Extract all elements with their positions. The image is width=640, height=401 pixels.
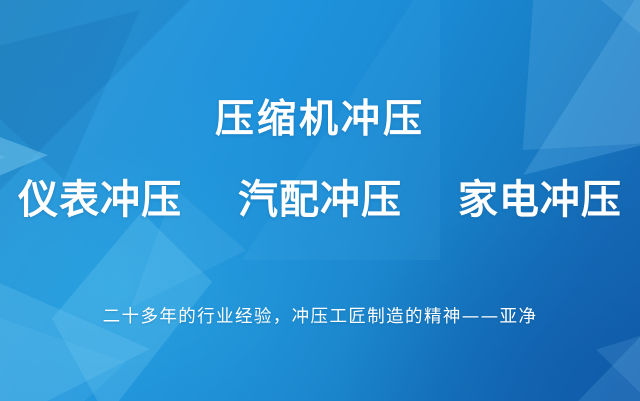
headline-primary: 压缩机冲压	[0, 99, 640, 142]
headline-segment-auto-parts: 汽配冲压	[238, 178, 402, 222]
headline-segment-instrument: 仪表冲压	[18, 178, 182, 222]
headline-secondary: 仪表冲压 汽配冲压 家电冲压	[0, 178, 640, 222]
tagline: 二十多年的行业经验，冲压工匠制造的精神——亚净	[0, 306, 640, 329]
promo-banner: 压缩机冲压 仪表冲压 汽配冲压 家电冲压 二十多年的行业经验，冲压工匠制造的精神…	[0, 0, 640, 401]
banner-content: 压缩机冲压 仪表冲压 汽配冲压 家电冲压 二十多年的行业经验，冲压工匠制造的精神…	[0, 0, 640, 401]
headline-segment-appliance: 家电冲压	[458, 178, 622, 222]
